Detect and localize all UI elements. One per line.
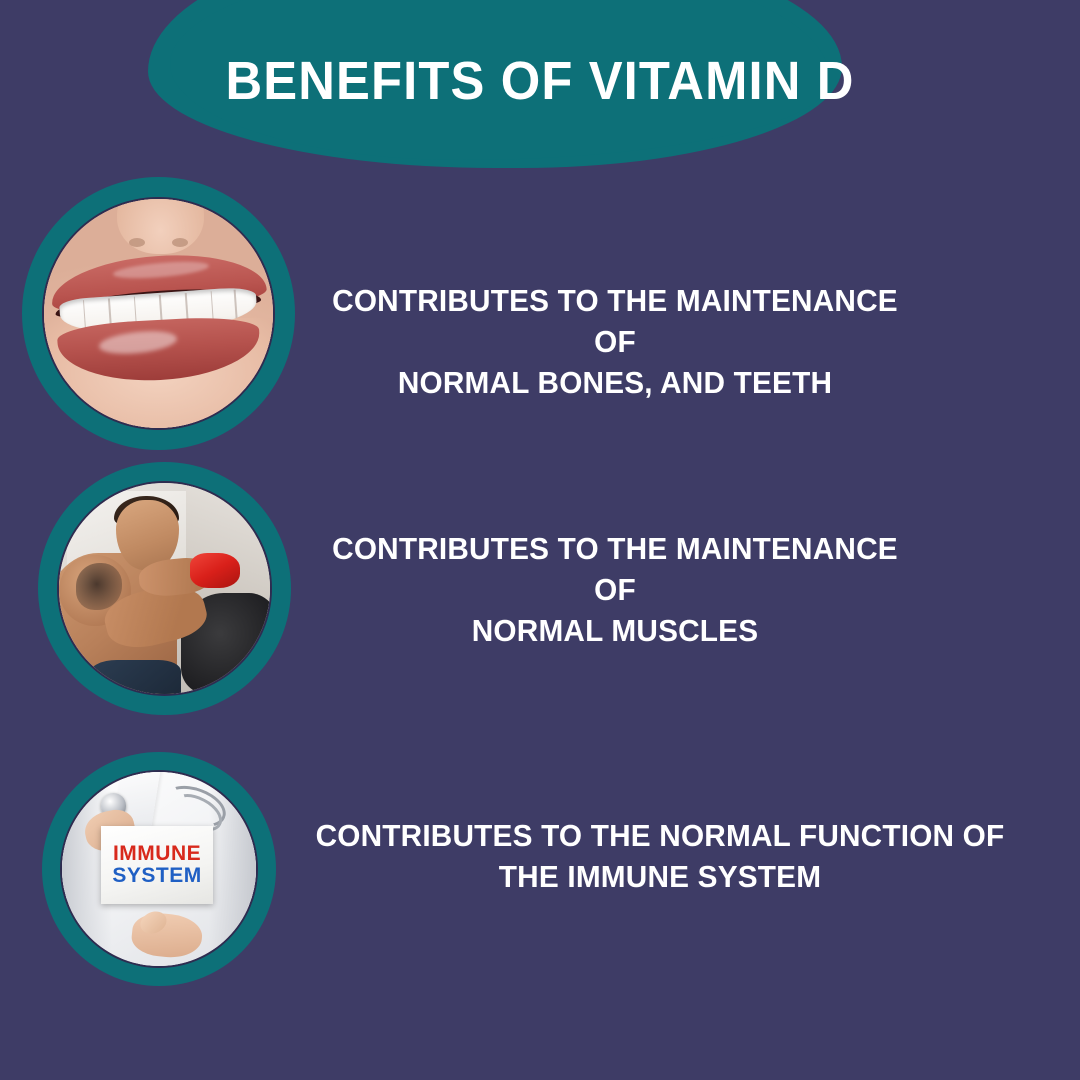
infographic-poster: BENEFITS OF VITAMIN D: [0, 0, 1080, 1080]
benefit-image-circle: IMMUNE SYSTEM: [42, 752, 276, 986]
benefit-text: CONTRIBUTES TO THE NORMAL FUNCTION OF TH…: [314, 815, 1005, 897]
smiling-mouth-teeth-photo: [44, 199, 273, 428]
sign-line-system: SYSTEM: [112, 865, 201, 887]
page-title: BENEFITS OF VITAMIN D: [32, 52, 1047, 110]
athlete-with-red-bottle-photo: [59, 483, 270, 694]
sign-line-immune: IMMUNE: [113, 843, 201, 865]
benefit-image-circle: [38, 462, 291, 715]
immune-system-sign: IMMUNE SYSTEM: [101, 826, 214, 904]
doctor-holding-immune-system-sign-photo: IMMUNE SYSTEM: [62, 772, 256, 966]
benefit-image-circle: [22, 177, 295, 450]
benefit-text: CONTRIBUTES TO THE MAINTENANCE OF NORMAL…: [313, 528, 918, 651]
benefit-text: CONTRIBUTES TO THE MAINTENANCE OF NORMAL…: [313, 280, 918, 403]
